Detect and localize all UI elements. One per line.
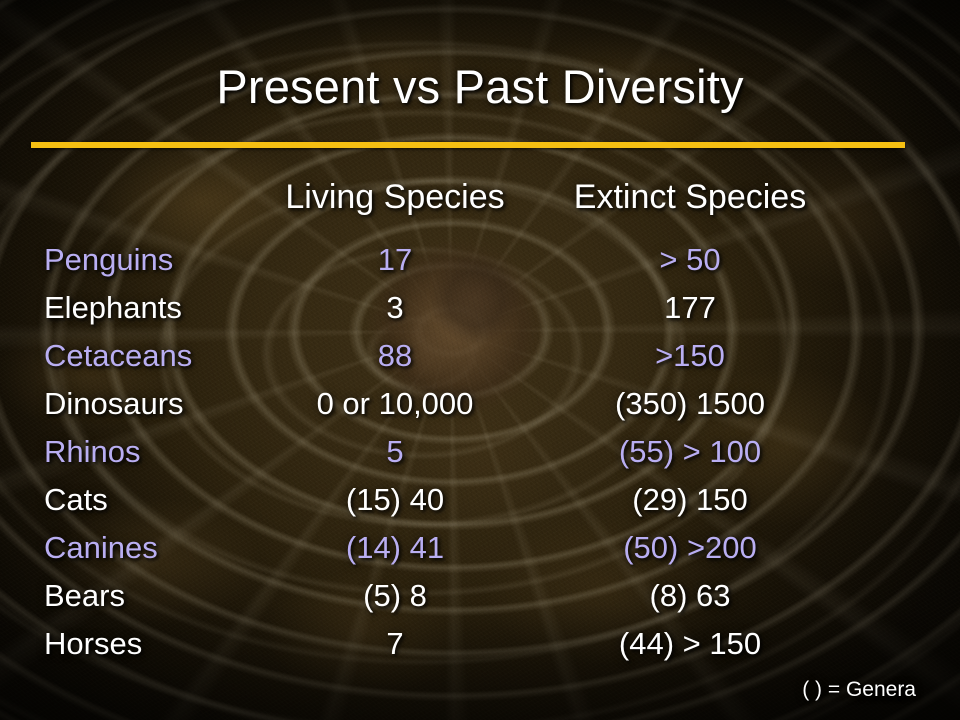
cell-extinct-species: > 50 <box>540 235 840 283</box>
cell-living-species: 7 <box>250 619 540 667</box>
title-divider <box>31 142 905 148</box>
diversity-table: Living Species Extinct Species Penguins1… <box>0 178 960 667</box>
diversity-table-body: Penguins17> 50Elephants3177Cetaceans88>1… <box>0 235 960 667</box>
cell-spacer <box>840 331 960 379</box>
cell-living-species: (5) 8 <box>250 571 540 619</box>
cell-spacer <box>840 571 960 619</box>
cell-taxon: Elephants <box>0 283 250 331</box>
cell-living-species: (15) 40 <box>250 475 540 523</box>
cell-extinct-species: (50) >200 <box>540 523 840 571</box>
cell-extinct-species: (55) > 100 <box>540 427 840 475</box>
cell-extinct-species: (8) 63 <box>540 571 840 619</box>
cell-spacer <box>840 619 960 667</box>
cell-extinct-species: (29) 150 <box>540 475 840 523</box>
cell-taxon: Dinosaurs <box>0 379 250 427</box>
cell-spacer <box>840 427 960 475</box>
cell-living-species: 5 <box>250 427 540 475</box>
table-row: Horses7(44) > 150 <box>0 619 960 667</box>
column-header-living-species: Living Species <box>250 178 540 235</box>
cell-taxon: Cats <box>0 475 250 523</box>
cell-extinct-species: 177 <box>540 283 840 331</box>
page-title: Present vs Past Diversity <box>0 62 960 111</box>
table-row: Cetaceans88>150 <box>0 331 960 379</box>
table-row: Rhinos5(55) > 100 <box>0 427 960 475</box>
cell-living-species: 3 <box>250 283 540 331</box>
diversity-table-wrapper: Living Species Extinct Species Penguins1… <box>0 178 960 667</box>
footnote-genera-key: ( ) = Genera <box>802 678 916 702</box>
cell-taxon: Bears <box>0 571 250 619</box>
cell-extinct-species: >150 <box>540 331 840 379</box>
cell-living-species: 0 or 10,000 <box>250 379 540 427</box>
cell-spacer <box>840 379 960 427</box>
table-row: Cats(15) 40(29) 150 <box>0 475 960 523</box>
cell-living-species: (14) 41 <box>250 523 540 571</box>
table-row: Bears(5) 8(8) 63 <box>0 571 960 619</box>
cell-spacer <box>840 235 960 283</box>
cell-living-species: 17 <box>250 235 540 283</box>
cell-spacer <box>840 475 960 523</box>
cell-taxon: Penguins <box>0 235 250 283</box>
cell-taxon: Cetaceans <box>0 331 250 379</box>
table-header-row: Living Species Extinct Species <box>0 178 960 235</box>
column-header-extinct-species: Extinct Species <box>540 178 840 235</box>
cell-spacer <box>840 283 960 331</box>
table-row: Penguins17> 50 <box>0 235 960 283</box>
cell-taxon: Rhinos <box>0 427 250 475</box>
cell-taxon: Canines <box>0 523 250 571</box>
column-header-taxon <box>0 178 250 235</box>
cell-extinct-species: (44) > 150 <box>540 619 840 667</box>
cell-spacer <box>840 523 960 571</box>
cell-taxon: Horses <box>0 619 250 667</box>
cell-living-species: 88 <box>250 331 540 379</box>
column-header-spacer <box>840 178 960 235</box>
cell-extinct-species: (350) 1500 <box>540 379 840 427</box>
table-row: Elephants3177 <box>0 283 960 331</box>
slide-canvas: Present vs Past Diversity Living Species… <box>0 0 960 720</box>
table-row: Dinosaurs0 or 10,000(350) 1500 <box>0 379 960 427</box>
table-row: Canines(14) 41(50) >200 <box>0 523 960 571</box>
